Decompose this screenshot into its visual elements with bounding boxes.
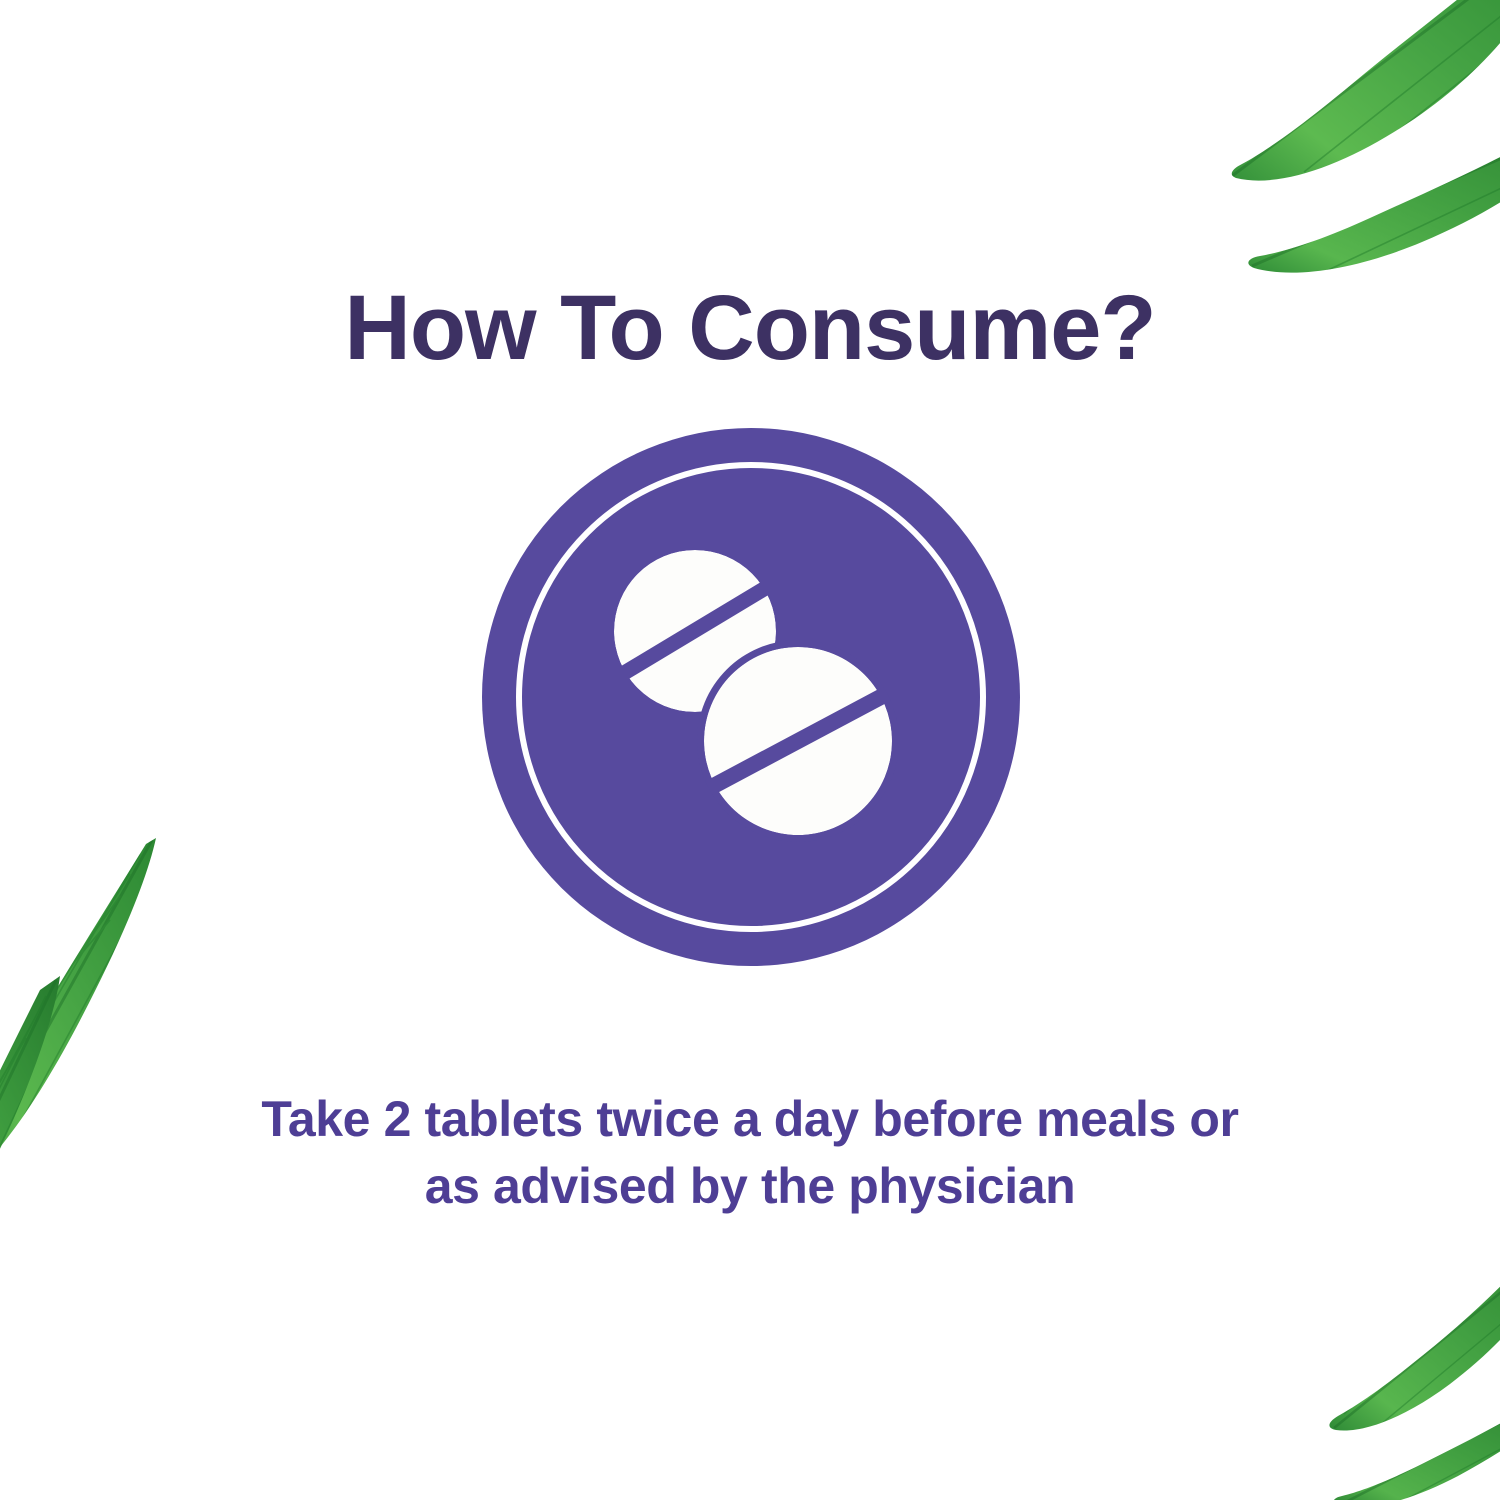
leaf-shape [1232,0,1500,188]
leaf-cluster-bottom-right-icon [1308,1286,1500,1500]
tablet-lower [697,640,899,842]
page-title: How To Consume? [0,280,1500,377]
leaf-shape [1248,120,1500,280]
leaf-cluster-top-right-icon [1184,0,1500,322]
leaf-shape [0,838,164,1200]
leaf-shape [1333,1388,1500,1500]
instruction-line-1: Take 2 tablets twice a day before meals … [150,1086,1350,1153]
how-to-consume-poster: How To Consume? [0,0,1500,1500]
two-tablets-in-circle-icon [482,428,1020,966]
leaf-shape [0,976,66,1288]
leaf-shape [1329,1246,1500,1436]
instruction-line-2: as advised by the physician [150,1153,1350,1220]
instruction-text: Take 2 tablets twice a day before meals … [150,1086,1350,1220]
